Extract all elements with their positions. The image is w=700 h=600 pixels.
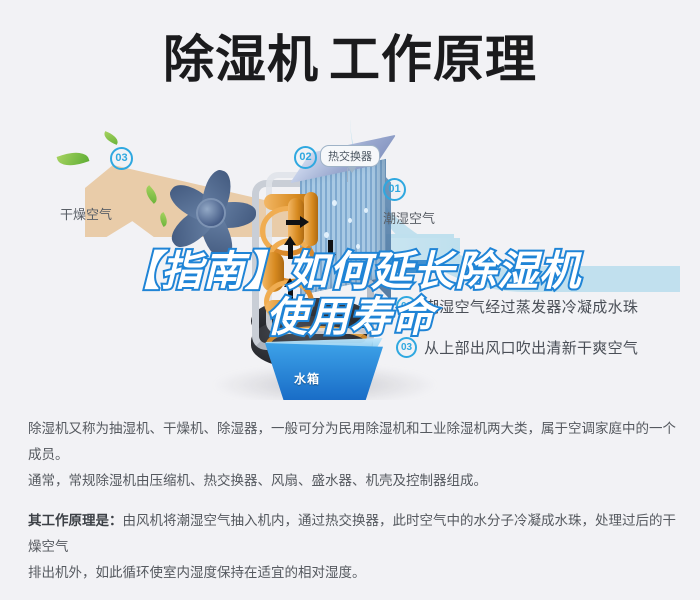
air-intake-arrow [392, 260, 444, 273]
step-list: 02 潮湿空气经过蒸发器冷凝成水珠 03 从上部出风口吹出清新干爽空气 [396, 296, 696, 378]
badge-03: 03 [396, 337, 417, 358]
badge-03-dry-air: 03 [110, 147, 133, 170]
step-text: 潮湿空气经过蒸发器冷凝成水珠 [424, 296, 638, 317]
paragraph-2-line-2: 排出机外，如此循环使室内湿度保持在适宜的相对湿度。 [28, 565, 366, 580]
compressor-coils [258, 188, 334, 338]
page-title-part2: 工作原理 [329, 31, 537, 88]
heat-exchanger-callout-stem [347, 168, 348, 182]
flow-arrow-up [288, 244, 293, 259]
page-title: 除湿机工作原理 [0, 30, 700, 90]
water-droplet-icon [356, 244, 360, 249]
flow-arrow-down [328, 240, 333, 255]
label-heat-exchanger: 热交换器 [320, 145, 380, 167]
paragraph-2-lead: 其工作原理是： [28, 513, 123, 528]
body-copy: 除湿机又称为抽湿机、干燥机、除湿器，一般可分为民用除湿机和工业除湿机两大类，属于… [28, 416, 676, 600]
paragraph-2: 其工作原理是：由风机将潮湿空气抽入机内，通过热交换器，此时空气中的水分子冷凝成水… [28, 508, 676, 586]
paragraph-1-line-2: 通常，常规除湿机由压缩机、热交换器、风扇、盛水器、机壳及控制器组成。 [28, 473, 487, 488]
water-tank-label: 水箱 [294, 370, 320, 387]
paragraph-1: 除湿机又称为抽湿机、干燥机、除湿器，一般可分为民用除湿机和工业除湿机两大类，属于… [28, 416, 676, 494]
leaf-icon [57, 148, 90, 171]
water-droplet-icon [364, 208, 368, 213]
badge-02-heat-exchanger: 02 [294, 146, 317, 169]
fan-blades [158, 168, 266, 260]
water-droplet-icon [348, 218, 352, 223]
leaf-icon [102, 131, 120, 145]
fan-hub [196, 198, 226, 228]
label-dry-air: 干燥空气 [60, 204, 112, 223]
page-root: 除湿机工作原理 [0, 0, 700, 566]
badge-01-humid-air: 01 [383, 178, 406, 201]
coil-segment [266, 300, 310, 314]
water-tank [265, 343, 383, 400]
paragraph-1-line-1: 除湿机又称为抽湿机、干燥机、除湿器，一般可分为民用除湿机和工业除湿机两大类，属于… [28, 421, 676, 462]
badge-02: 02 [396, 296, 417, 317]
page-title-part1: 除湿机 [163, 31, 319, 88]
step-text: 从上部出风口吹出清新干爽空气 [424, 337, 638, 358]
flow-arrow-up [288, 286, 293, 301]
step-item: 02 潮湿空气经过蒸发器冷凝成水珠 [396, 296, 696, 317]
flow-arrow-right [286, 220, 301, 225]
paragraph-2-rest: 由风机将潮湿空气抽入机内，通过热交换器，此时空气中的水分子冷凝成水珠，处理过后的… [28, 513, 676, 554]
step-item: 03 从上部出风口吹出清新干爽空气 [396, 337, 696, 358]
water-droplet-icon [338, 258, 343, 264]
label-humid-air: 潮湿空气 [383, 208, 435, 227]
